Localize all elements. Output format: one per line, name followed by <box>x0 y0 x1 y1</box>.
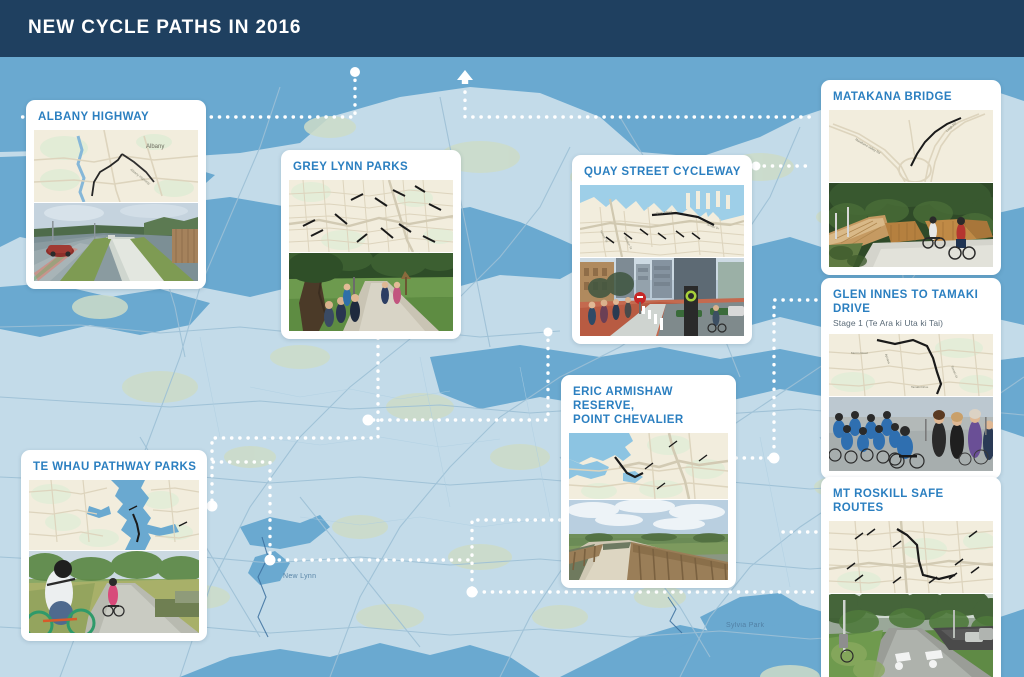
page-title: NEW CYCLE PATHS IN 2016 <box>28 17 301 39</box>
card-subtitle-glen-innes-to-tamaki-drive: Stage 1 (Te Ara ki Uta ki Tai) <box>829 318 993 334</box>
card-mt-roskill-safe-routes[interactable]: MT ROSKILL SAFE ROUTES <box>821 477 1001 677</box>
infographic-root: NEW CYCLE PATHS IN 2016 <box>0 0 1024 677</box>
card-quay-street-cycleway[interactable]: QUAY STREET CYCLEWAY <box>572 155 752 344</box>
map-thumbnail-matakana-bridge: Matakana Valley Rd Leigh Rd <box>829 110 993 182</box>
card-title-line-2: POINT CHEVALIER <box>573 414 684 426</box>
card-title-eric-armishaw-reserve: ERIC ARMISHAW RESERVE, POINT CHEVALIER <box>569 383 728 433</box>
card-title-te-whau-pathway-parks: TE WHAU PATHWAY PARKS <box>29 458 199 480</box>
photo-eric-armishaw-reserve <box>569 500 728 580</box>
header-bar: NEW CYCLE PATHS IN 2016 <box>0 0 1024 57</box>
map-thumbnail-albany-highway: Albany Albany Highway <box>34 130 198 202</box>
card-title-matakana-bridge: MATAKANA BRIDGE <box>829 88 993 110</box>
map-thumbnail-quay-street-cycleway: Quay Street Tamaki Dr Nelson St Hobson S… <box>580 185 744 257</box>
map-label-new-lynn: New Lynn <box>283 573 316 580</box>
card-title-line-1: ERIC ARMISHAW RESERVE, <box>573 386 673 412</box>
map-thumb-label-albany: Albany <box>146 144 164 150</box>
photo-glen-innes-to-tamaki-drive <box>829 397 993 471</box>
card-eric-armishaw-reserve[interactable]: ERIC ARMISHAW RESERVE, POINT CHEVALIER <box>561 375 736 588</box>
spectator-3 <box>968 409 982 458</box>
map-thumbnail-mt-roskill-safe-routes <box>829 521 993 593</box>
card-title-mt-roskill-safe-routes: MT ROSKILL SAFE ROUTES <box>829 485 993 521</box>
photo-matakana-bridge <box>829 183 993 267</box>
spectator-1 <box>932 410 946 457</box>
card-te-whau-pathway-parks[interactable]: TE WHAU PATHWAY PARKS <box>21 450 207 641</box>
svg-text:Morrin Road: Morrin Road <box>851 351 868 355</box>
map-label-sylvia-park: Sylvia Park <box>726 622 764 629</box>
map-thumbnail-eric-armishaw-reserve <box>569 433 728 499</box>
card-glen-innes-to-tamaki-drive[interactable]: GLEN INNES TO TAMAKI DRIVE Stage 1 (Te A… <box>821 278 1001 479</box>
photo-albany-highway <box>34 203 198 281</box>
map-thumbnail-te-whau-pathway-parks <box>29 480 199 550</box>
photo-grey-lynn-parks <box>289 253 453 331</box>
map-thumbnail-glen-innes-to-tamaki-drive: Morrin Road Tamaki Dr Apirana Tamaki Dri… <box>829 334 993 396</box>
map-thumbnail-grey-lynn-parks <box>289 180 453 252</box>
photo-quay-street-cycleway <box>580 258 744 336</box>
card-title-grey-lynn-parks: GREY LYNN PARKS <box>289 158 453 180</box>
photo-te-whau-pathway-parks <box>29 551 199 633</box>
card-grey-lynn-parks[interactable]: GREY LYNN PARKS <box>281 150 461 339</box>
card-albany-highway[interactable]: ALBANY HIGHWAY Albany Albany Highway <box>26 100 206 289</box>
card-title-glen-innes-to-tamaki-drive: GLEN INNES TO TAMAKI DRIVE <box>829 286 993 322</box>
card-title-albany-highway: ALBANY HIGHWAY <box>34 108 198 130</box>
card-title-quay-street-cycleway: QUAY STREET CYCLEWAY <box>580 163 744 185</box>
photo-mt-roskill-safe-routes <box>829 594 993 677</box>
card-matakana-bridge[interactable]: MATAKANA BRIDGE Matakana Valley Rd Leigh… <box>821 80 1001 275</box>
svg-text:Tamaki Drive: Tamaki Drive <box>911 385 929 389</box>
spectator-2 <box>950 412 964 459</box>
